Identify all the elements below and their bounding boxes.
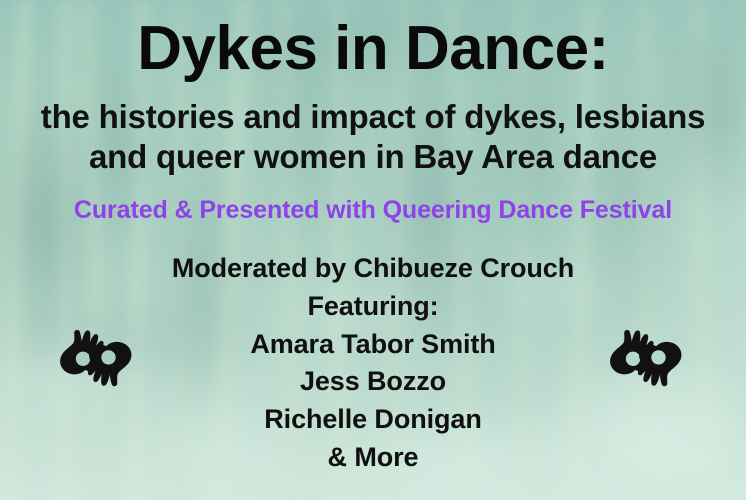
event-poster: Dykes in Dance: the histories and impact… xyxy=(0,0,746,500)
poster-presenter-credit: Curated & Presented with Queering Dance … xyxy=(0,196,746,225)
lineup-moderator: Moderated by Chibueze Crouch xyxy=(0,250,746,288)
poster-subtitle: the histories and impact of dykes, lesbi… xyxy=(0,97,746,178)
poster-lineup: Moderated by Chibueze Crouch Featuring: … xyxy=(0,250,746,477)
lineup-performer-1: Amara Tabor Smith xyxy=(0,326,746,364)
lineup-more: & More xyxy=(0,439,746,477)
lineup-performer-3: Richelle Donigan xyxy=(0,401,746,439)
poster-subtitle-line-1: the histories and impact of dykes, lesbi… xyxy=(8,97,738,137)
poster-subtitle-line-2: and queer women in Bay Area dance xyxy=(8,137,738,177)
lineup-featuring-label: Featuring: xyxy=(0,288,746,326)
poster-title: Dykes in Dance: xyxy=(0,18,746,80)
poster-text-content: Dykes in Dance: the histories and impact… xyxy=(0,0,746,500)
lineup-performer-2: Jess Bozzo xyxy=(0,363,746,401)
